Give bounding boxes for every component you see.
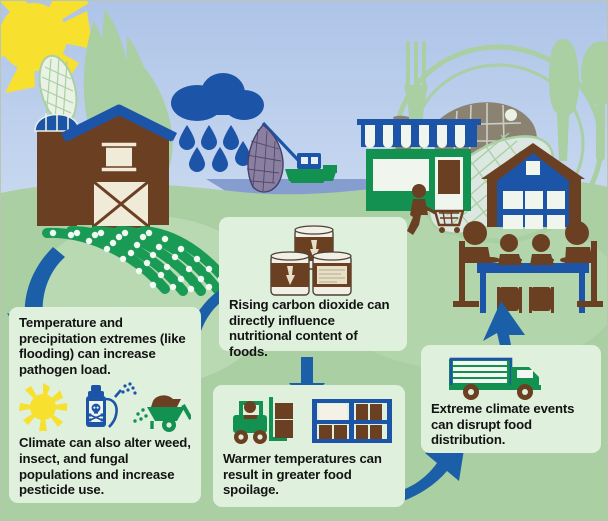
center-box-paragraph-1: Rising carbon dioxide can directly influ… — [229, 297, 397, 359]
fertilizer-granules — [133, 409, 147, 423]
bottom-box-icon-row — [223, 393, 395, 451]
left-box-paragraph-1: Temperature and precipitation extremes (… — [19, 315, 191, 377]
food-spoilage-box: Warmer temperatures can result in greate… — [213, 385, 405, 507]
wheelbarrow-fertilizer-icon — [133, 396, 191, 433]
right-box-icon-row — [431, 353, 591, 401]
delivery-truck-icon — [443, 353, 559, 401]
bottom-box-paragraph-1: Warmer temperatures can result in greate… — [223, 451, 395, 498]
left-box-icon-row — [19, 381, 191, 433]
spray-droplets — [121, 383, 136, 395]
right-box-paragraph-1: Extreme climate events can disrupt food … — [431, 401, 591, 448]
canned-food-icon — [253, 225, 373, 297]
food-distribution-box: Extreme climate events can disrupt food … — [421, 345, 601, 453]
warehouse-shelving-icon — [312, 399, 392, 443]
forklift-icon — [233, 397, 293, 444]
infographic-canvas: Temperature and precipitation extremes (… — [0, 0, 608, 521]
pathogen-pesticide-box: Temperature and precipitation extremes (… — [9, 307, 201, 503]
pesticide-sprayer-icon — [86, 383, 137, 428]
carbon-dioxide-nutrition-box: Rising carbon dioxide can directly influ… — [219, 217, 407, 351]
left-box-paragraph-2: Climate can also alter weed, insect, and… — [19, 435, 191, 497]
center-box-icon-row — [229, 225, 397, 297]
sun-icon — [19, 383, 67, 431]
